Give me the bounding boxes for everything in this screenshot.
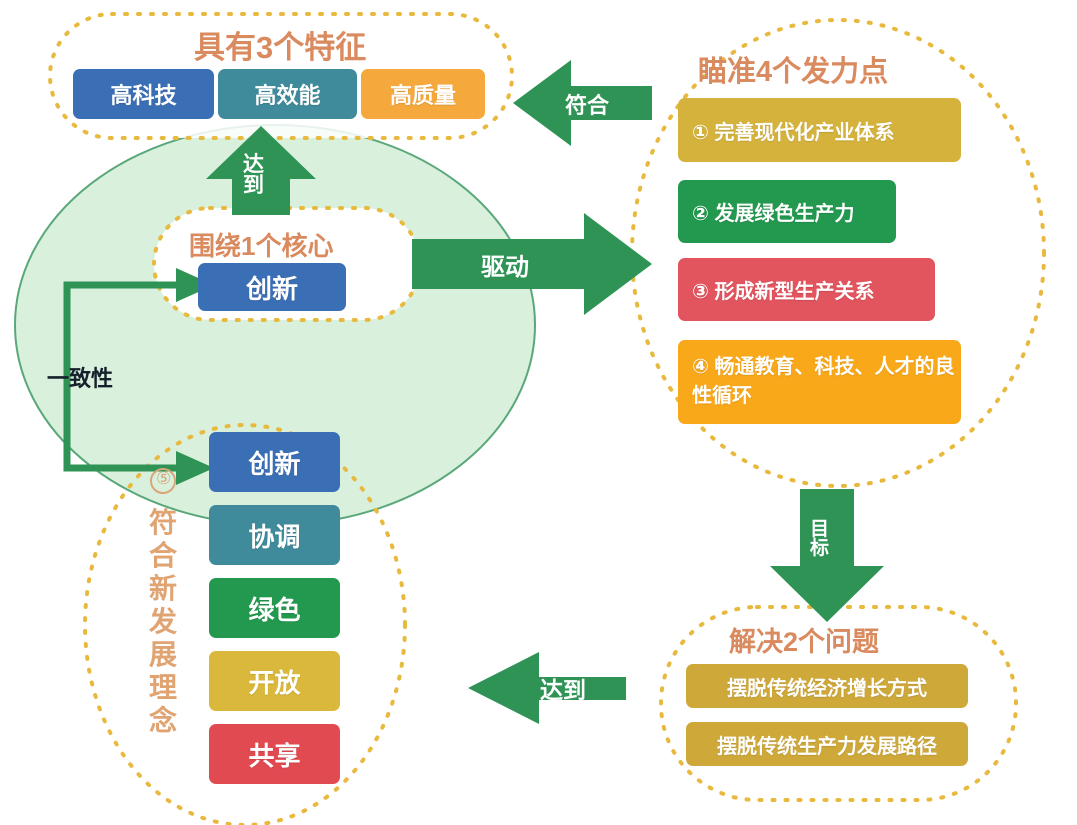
concept-box-4[interactable]: 开放 [209,651,340,711]
feature-box-2[interactable]: 高效能 [218,69,357,119]
concept-box-3[interactable]: 绿色 [209,578,340,638]
goal-arrow-label: 目标 [810,508,844,570]
concepts-number-label: ⑤ [156,469,171,489]
problem-box-2[interactable]: 摆脱传统生产力发展路径 [686,722,968,766]
concept-box-5[interactable]: 共享 [209,724,340,784]
problems-title: 解决2个问题 [729,620,879,659]
concepts-vertical-title: 符合新发展理念 [143,506,183,737]
drive-arrow-label: 驱动 [460,248,550,280]
reach-up-arrow-label: 达到 [243,140,279,210]
core-title: 围绕1个核心 [189,226,333,263]
concept-box-1[interactable]: 创新 [209,432,340,492]
focus-box-4[interactable]: ④ 畅通教育、科技、人才的良性循环 [678,340,961,424]
problem-box-1[interactable]: 摆脱传统经济增长方式 [686,664,968,708]
feature-box-3[interactable]: 高质量 [361,69,485,119]
concept-box-2[interactable]: 协调 [209,505,340,565]
feature-box-1[interactable]: 高科技 [73,69,214,119]
core-box-innovation[interactable]: 创新 [198,263,346,311]
focus-box-1[interactable]: ① 完善现代化产业体系 [678,98,961,162]
focus-box-3[interactable]: ③ 形成新型生产关系 [678,258,935,321]
focus-title: 瞄准4个发力点 [698,48,888,90]
features-title: 具有3个特征 [194,22,366,67]
focus-box-2[interactable]: ② 发展绿色生产力 [678,180,896,243]
diagram-canvas: 具有3个特征 高科技 高效能 高质量 围绕1个核心 创新 瞄准4个发力点 ① 完… [0,0,1077,825]
reach-left-arrow-label: 达到 [523,673,603,703]
consistency-label: 一致性 [47,361,113,393]
conform-arrow-label: 符合 [548,90,626,118]
